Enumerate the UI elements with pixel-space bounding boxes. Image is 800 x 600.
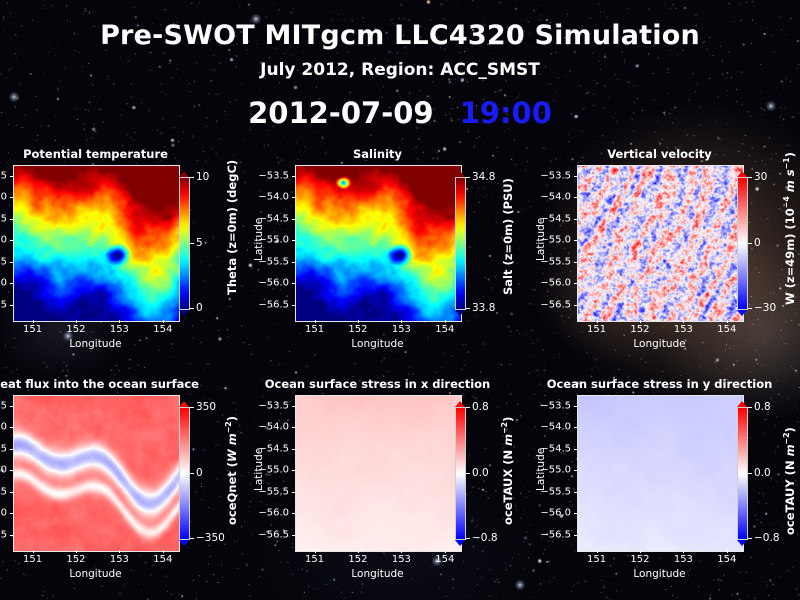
starfield-background [0, 0, 800, 600]
page-subtitle: July 2012, Region: ACC_SMST [0, 60, 800, 80]
timestamp-line: 2012-07-0919:00 [0, 96, 800, 130]
page-title: Pre-SWOT MITgcm LLC4320 Simulation [0, 20, 800, 51]
time-text: 19:00 [460, 96, 552, 130]
figure-canvas: Pre-SWOT MITgcm LLC4320 Simulation July … [0, 0, 800, 600]
stars-layer [0, 0, 800, 600]
date-text: 2012-07-09 [248, 96, 434, 130]
